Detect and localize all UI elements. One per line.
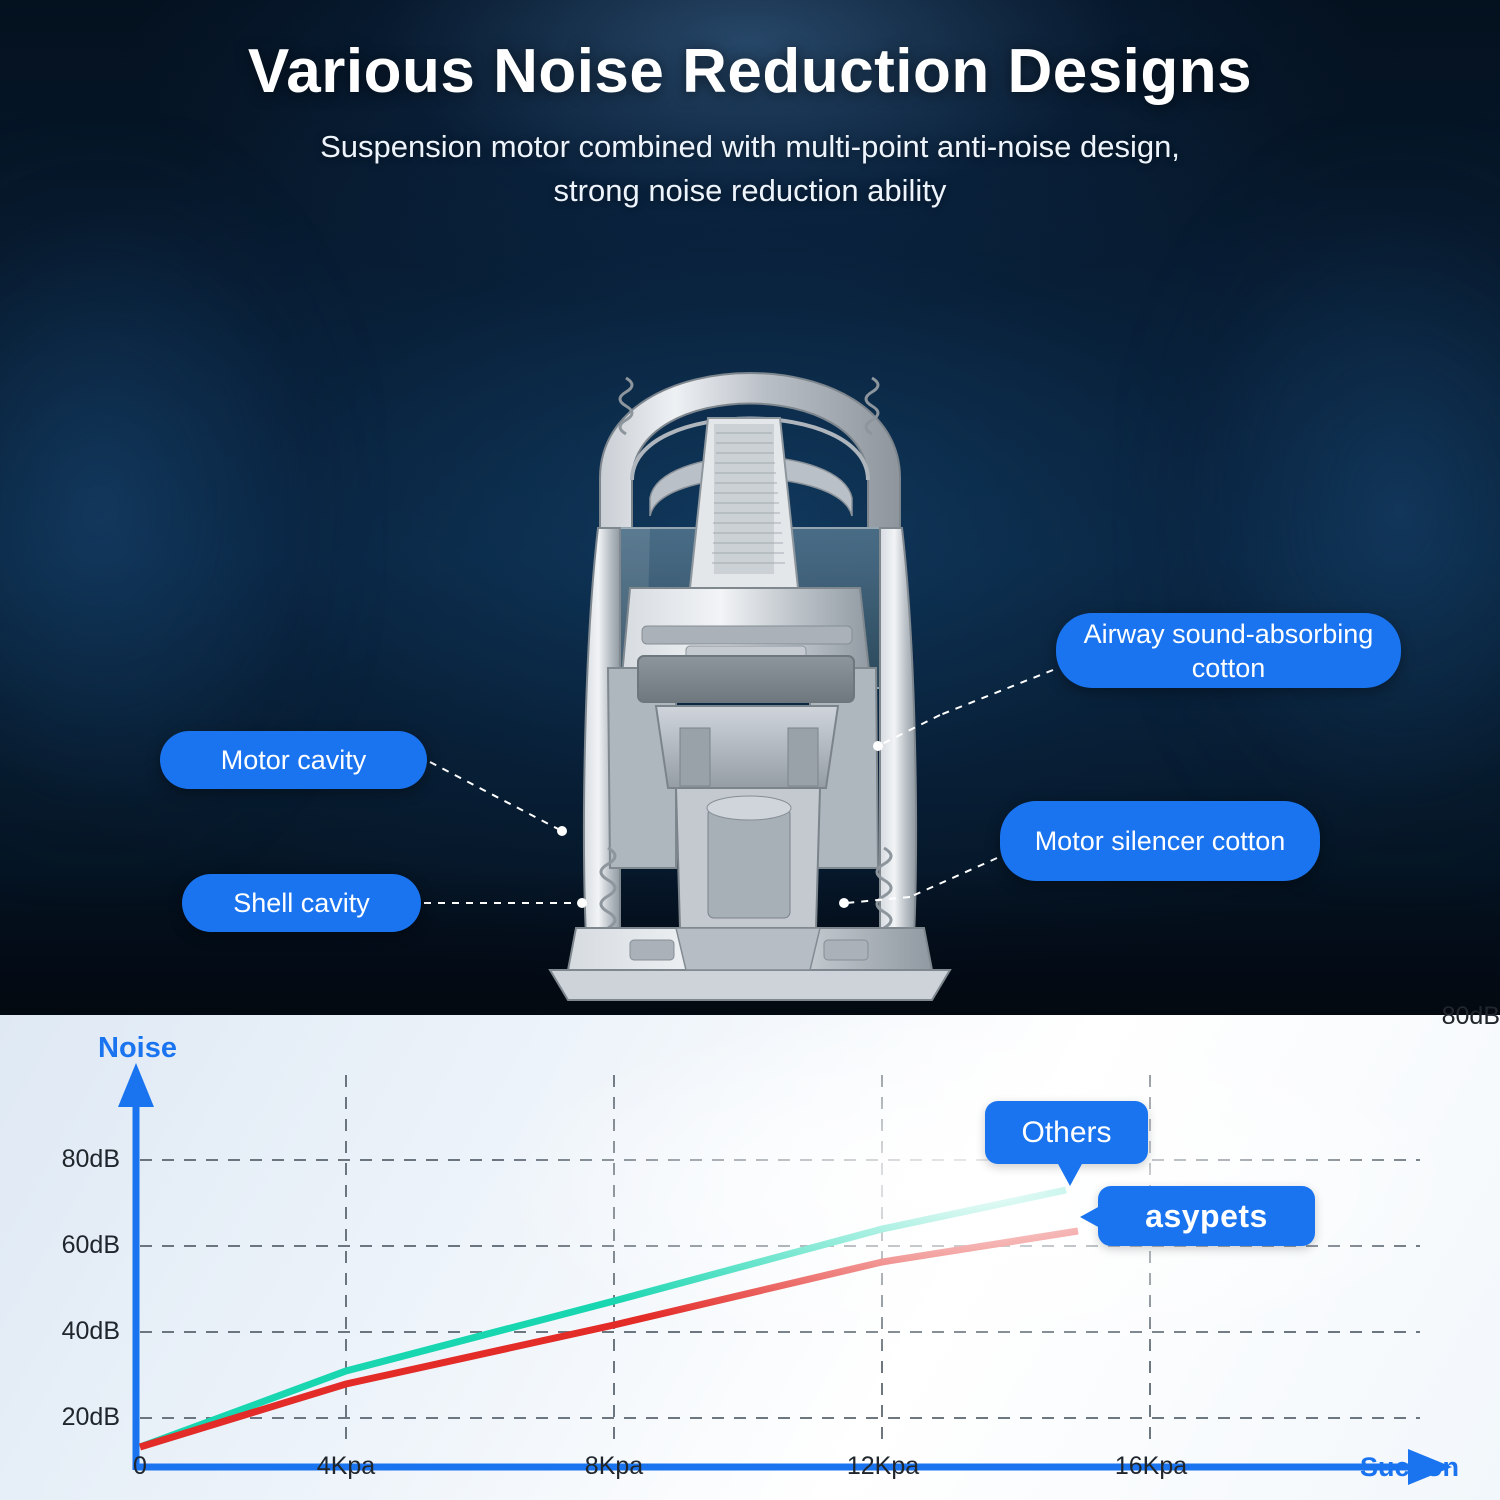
xtick-4: 16Kpa: [1086, 1452, 1216, 1481]
callout-motor-cavity-label: Motor cavity: [221, 743, 367, 777]
callout-shell-cavity-label: Shell cavity: [233, 886, 370, 920]
xtick-3: 12Kpa: [818, 1452, 948, 1481]
noise-suction-chart: 80dB: [0, 1015, 1500, 1500]
y-axis: [118, 1063, 154, 1470]
callout-motor-silencer-label: Motor silencer cotton: [1035, 824, 1286, 858]
ytick-3: 60dB: [0, 1231, 120, 1260]
legend-callout-others: Others: [985, 1101, 1148, 1164]
subtitle-line-2: strong noise reduction ability: [0, 169, 1500, 213]
chart-x-axis-label: Suction: [1360, 1452, 1459, 1483]
y-axis-arrowhead: [118, 1063, 154, 1107]
base-foot: [550, 970, 950, 1000]
device-cutaway-illustration: [480, 228, 1020, 1008]
motor-core: [708, 808, 790, 918]
callout-motor-cavity: Motor cavity: [160, 731, 427, 789]
motor-top-plate: [638, 656, 854, 702]
device-svg: [480, 228, 1020, 1008]
ytick-2: 40dB: [0, 1317, 120, 1346]
ytick-80db: 80dB: [1380, 1002, 1500, 1031]
shell-right: [880, 528, 916, 968]
legend-others-label: Others: [1021, 1116, 1111, 1150]
callout-airway-cotton: Airway sound-absorbing cotton: [1056, 613, 1401, 688]
chart-y-axis-label: Noise: [98, 1032, 177, 1065]
callout-motor-silencer: Motor silencer cotton: [1000, 801, 1320, 881]
xtick-2: 8Kpa: [554, 1452, 674, 1481]
page-title: Various Noise Reduction Designs: [0, 36, 1500, 107]
series-line-others: [140, 1190, 1066, 1447]
callout-airway-cotton-label: Airway sound-absorbing cotton: [1080, 617, 1377, 685]
ytick-4: 80dB: [0, 1145, 120, 1174]
chart-svg: [0, 1015, 1500, 1500]
product-infographic: Various Noise Reduction Designs Suspensi…: [0, 0, 1500, 1500]
xtick-0: 0: [110, 1452, 170, 1481]
motor-silencer-cotton-left: [680, 728, 710, 786]
legend-callout-asypets: asypets: [1098, 1186, 1315, 1246]
series-line-asypets: [140, 1231, 1078, 1447]
glow-right: [1120, 120, 1500, 900]
brand-logo-text: asypets: [1145, 1198, 1268, 1235]
callout-shell-cavity: Shell cavity: [182, 874, 421, 932]
motor-silencer-cotton-right: [788, 728, 818, 786]
subtitle-line-1: Suspension motor combined with multi-poi…: [0, 125, 1500, 169]
xtick-1: 4Kpa: [286, 1452, 406, 1481]
page-subtitle: Suspension motor combined with multi-poi…: [0, 125, 1500, 213]
ytick-1: 20dB: [0, 1403, 120, 1432]
